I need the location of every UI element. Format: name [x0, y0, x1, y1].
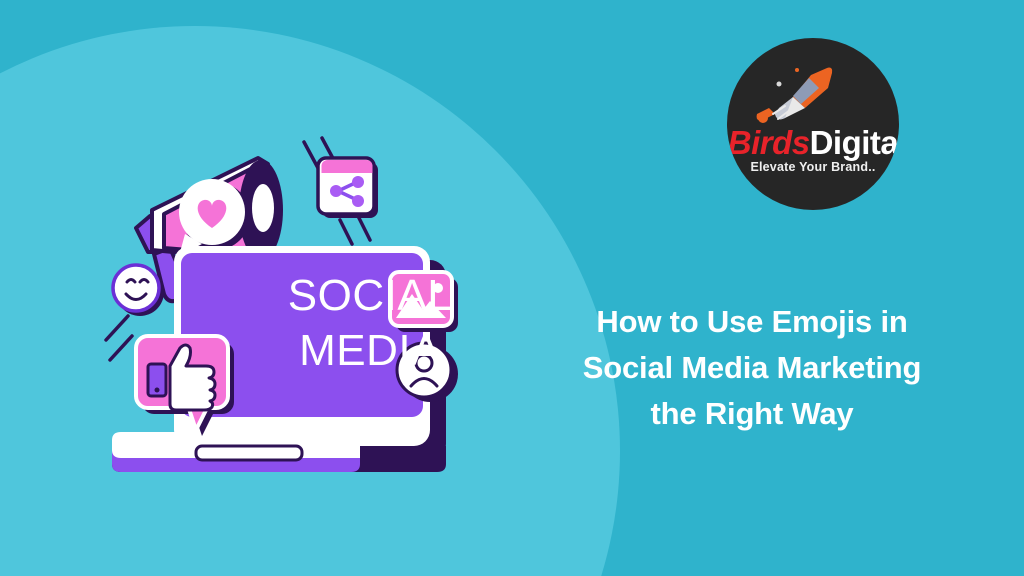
page-title: How to Use Emojis in Social Media Market…	[556, 299, 948, 437]
decorative-dashes-icon-2	[340, 216, 370, 244]
logo-word-secondary: Digita	[810, 124, 899, 161]
logo-wordmark: BirdsDigita	[727, 126, 899, 159]
rocket-icon	[749, 64, 835, 128]
logo-badge[interactable]: BirdsDigita Elevate Your Brand..	[727, 38, 899, 210]
logo-word-primary: Birds	[728, 124, 810, 161]
logo-tagline: Elevate Your Brand..	[727, 160, 899, 174]
decorative-dashes-icon-3	[106, 316, 132, 360]
banner: SOCIAL MEDIA BirdsDigita Elevate Your Br…	[0, 0, 1024, 576]
social-media-laptop-illustration: SOCIAL MEDIA	[90, 120, 490, 510]
image-icon	[390, 272, 458, 332]
share-icon	[318, 158, 378, 218]
smiley-face-icon	[113, 265, 164, 316]
